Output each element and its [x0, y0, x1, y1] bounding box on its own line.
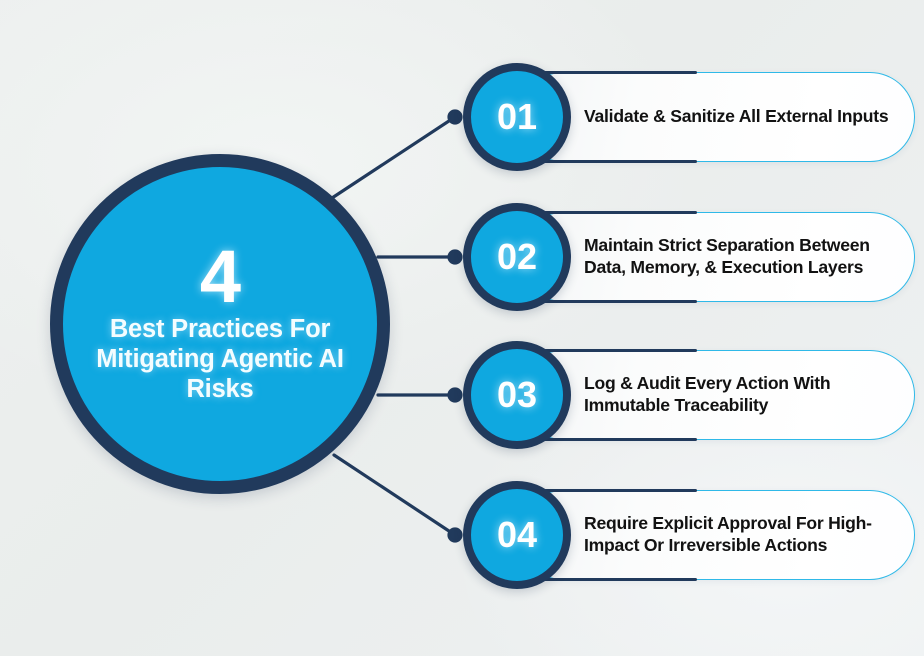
item-number: 02 [497, 236, 537, 278]
item-text: Validate & Sanitize All External Inputs [584, 106, 888, 128]
card-accent-top [527, 211, 697, 214]
list-item[interactable]: Log & Audit Every Action With Immutable … [463, 341, 915, 449]
item-card[interactable]: Validate & Sanitize All External Inputs [518, 72, 915, 162]
item-card[interactable]: Log & Audit Every Action With Immutable … [518, 350, 915, 440]
connector-dot-1 [449, 111, 461, 123]
connector-line-4 [334, 455, 455, 535]
item-number: 03 [497, 374, 537, 416]
hub-number: 4 [200, 243, 240, 311]
card-accent-top [527, 489, 697, 492]
list-item[interactable]: Require Explicit Approval For High-Impac… [463, 481, 915, 589]
connector-dot-4 [449, 529, 461, 541]
card-accent-top [527, 349, 697, 352]
item-text: Maintain Strict Separation Between Data,… [584, 235, 892, 278]
item-card[interactable]: Require Explicit Approval For High-Impac… [518, 490, 915, 580]
item-number-badge[interactable]: 03 [463, 341, 571, 449]
hub-title: Best Practices For Mitigating Agentic AI… [63, 315, 377, 404]
item-number-badge[interactable]: 04 [463, 481, 571, 589]
list-item[interactable]: Maintain Strict Separation Between Data,… [463, 203, 915, 311]
item-number: 04 [497, 514, 537, 556]
connector-dot-2 [449, 251, 461, 263]
card-accent-bottom [527, 438, 697, 441]
infographic-canvas: 4 Best Practices For Mitigating Agentic … [0, 0, 924, 656]
item-number: 01 [497, 96, 537, 138]
item-text: Log & Audit Every Action With Immutable … [584, 373, 892, 416]
connector-line-1 [332, 117, 455, 198]
list-item[interactable]: Validate & Sanitize All External Inputs … [463, 63, 915, 171]
card-accent-top [527, 71, 697, 74]
card-accent-bottom [527, 578, 697, 581]
item-number-badge[interactable]: 02 [463, 203, 571, 311]
card-accent-bottom [527, 300, 697, 303]
card-accent-bottom [527, 160, 697, 163]
item-text: Require Explicit Approval For High-Impac… [584, 513, 892, 556]
item-card[interactable]: Maintain Strict Separation Between Data,… [518, 212, 915, 302]
item-number-badge[interactable]: 01 [463, 63, 571, 171]
connector-dot-3 [449, 389, 461, 401]
central-hub: 4 Best Practices For Mitigating Agentic … [50, 154, 390, 494]
